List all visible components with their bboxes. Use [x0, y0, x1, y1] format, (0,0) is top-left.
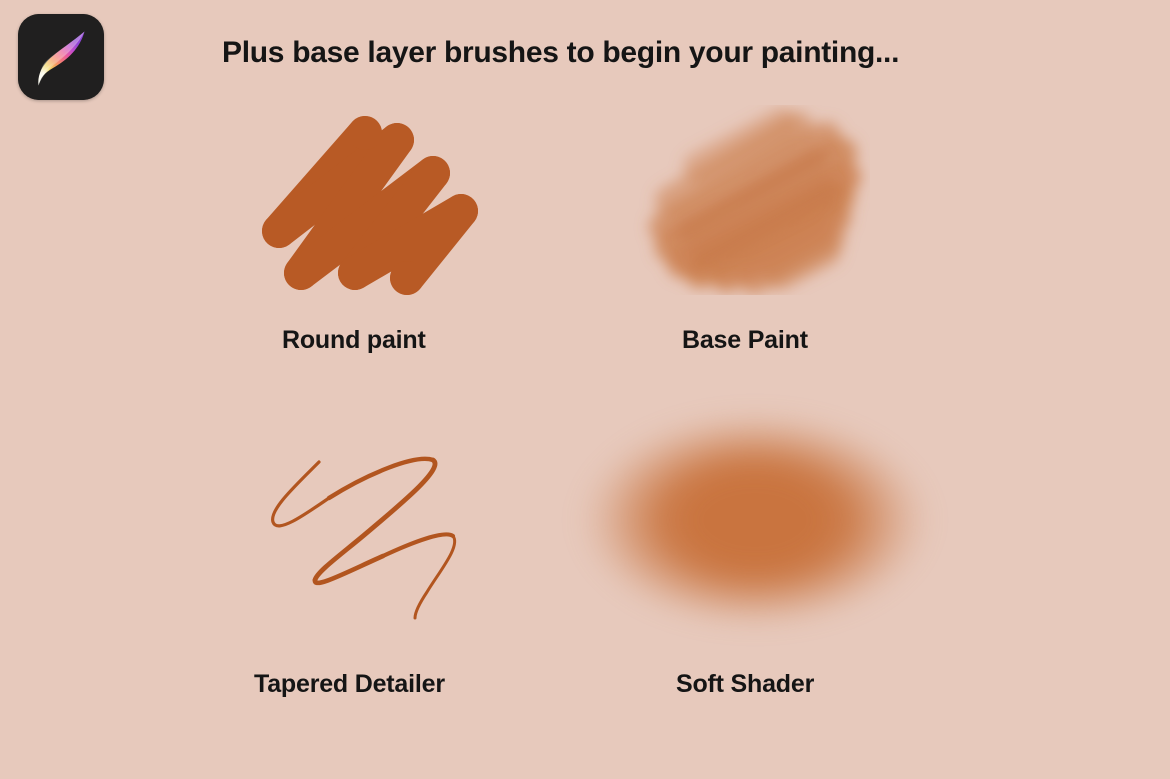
- brush-swatch-round-paint: [255, 115, 485, 295]
- page-title: Plus base layer brushes to begin your pa…: [222, 36, 1042, 70]
- tapered-detailer-stroke-art: [255, 440, 485, 620]
- brush-swatch-base-paint: [630, 105, 870, 295]
- brush-label-tapered-detailer: Tapered Detailer: [254, 670, 445, 699]
- base-paint-stroke-art: [630, 105, 870, 295]
- soft-shader-stroke-art: [555, 395, 955, 645]
- brush-label-round-paint: Round paint: [282, 326, 426, 355]
- brush-swatch-soft-shader: [555, 395, 955, 645]
- procreate-feather-icon: [18, 14, 104, 100]
- procreate-app-icon: [18, 14, 104, 100]
- brush-swatch-tapered-detailer: [255, 440, 485, 620]
- brush-label-base-paint: Base Paint: [682, 326, 808, 355]
- brush-label-soft-shader: Soft Shader: [676, 670, 814, 699]
- round-paint-stroke-art: [255, 115, 485, 295]
